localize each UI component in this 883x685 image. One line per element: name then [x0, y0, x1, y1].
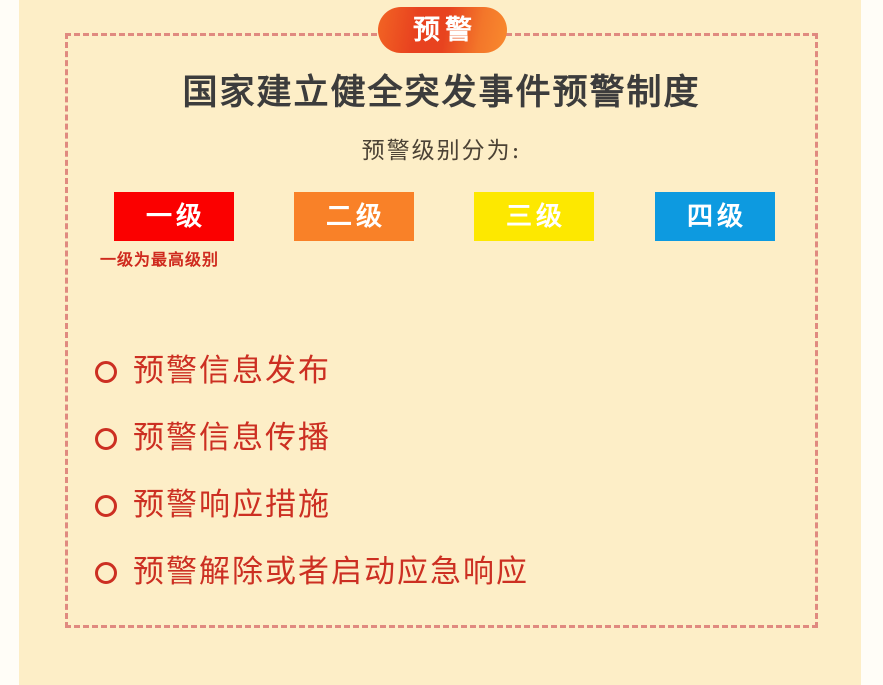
circle-bullet-icon: [95, 428, 117, 450]
list-item-label: 预警信息发布: [133, 356, 331, 387]
list-item-label: 预警响应措施: [133, 490, 331, 521]
list-item: 预警信息发布: [95, 338, 795, 405]
circle-bullet-icon: [95, 562, 117, 584]
circle-bullet-icon: [95, 361, 117, 383]
warning-badge: 预警: [378, 7, 507, 53]
list-item: 预警信息传播: [95, 405, 795, 472]
warning-level-box-3: 三级: [474, 192, 594, 241]
warning-level-label-3: 三级: [502, 204, 566, 230]
circle-bullet-icon: [95, 495, 117, 517]
highest-level-note: 一级为最高级别: [100, 246, 219, 270]
warning-level-box-4: 四级: [655, 192, 775, 241]
warning-process-list: 预警信息发布 预警信息传播 预警响应措施 预警解除或者启动应急响应: [95, 338, 795, 606]
warning-level-box-1: 一级: [114, 192, 234, 241]
list-item: 预警解除或者启动应急响应: [95, 539, 795, 606]
warning-level-label-4: 四级: [683, 204, 747, 230]
warning-level-group: 一级 二级 三级 四级: [114, 192, 776, 241]
list-item: 预警响应措施: [95, 472, 795, 539]
warning-level-label-1: 一级: [142, 204, 206, 230]
list-item-label: 预警解除或者启动应急响应: [133, 557, 529, 588]
list-item-label: 预警信息传播: [133, 423, 331, 454]
infographic-poster: 预警 国家建立健全突发事件预警制度 预警级别分为: 一级 二级 三级 四级 一级…: [0, 0, 883, 685]
warning-level-box-2: 二级: [294, 192, 414, 241]
page-title: 国家建立健全突发事件预警制度: [0, 72, 883, 114]
warning-level-label-2: 二级: [322, 204, 386, 230]
warning-badge-label: 预警: [408, 17, 477, 44]
page-subtitle: 预警级别分为:: [0, 138, 883, 166]
